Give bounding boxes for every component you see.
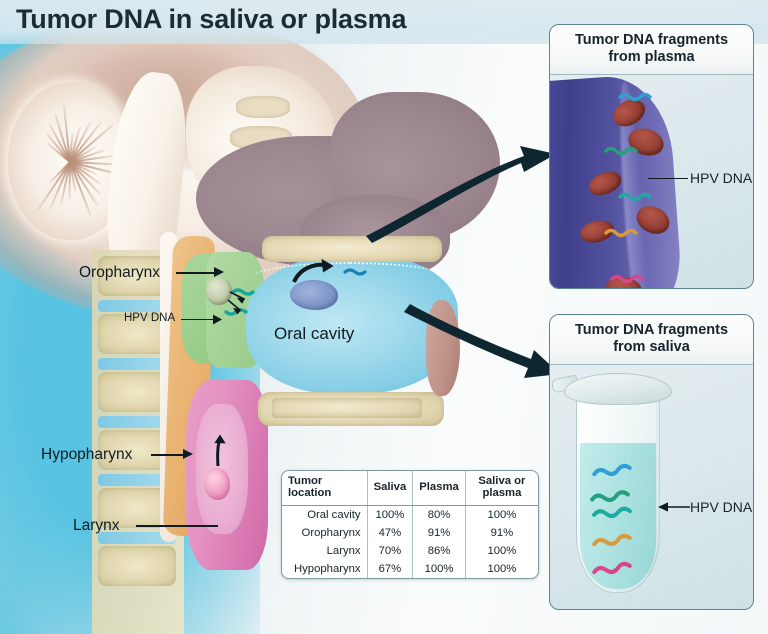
cell-saliva-or-plasma: 100%	[465, 560, 538, 578]
cell-saliva-or-plasma: 91%	[465, 524, 538, 542]
hpv-dna-fragment-icon	[594, 535, 630, 547]
hpv-dna-fragment-icon	[592, 492, 628, 503]
leader-hypopharynx	[151, 454, 187, 456]
cell-saliva-or-plasma: 100%	[465, 505, 538, 524]
tongue-dorsum-edge	[250, 262, 450, 296]
cell-location: Oropharynx	[282, 524, 367, 542]
oropharynx-tumor	[206, 277, 232, 305]
table-header-saliva: Saliva	[367, 471, 413, 505]
table-row: Hypopharynx67%100%100%	[282, 560, 538, 578]
table-row: Oropharynx47%91%91%	[282, 524, 538, 542]
panel-plasma-title: Tumor DNA fragments from plasma	[550, 25, 753, 75]
panel-plasma: Tumor DNA fragments from plasma	[549, 24, 754, 289]
table-head: Tumor location Saliva Plasma Saliva or p…	[282, 471, 538, 505]
table-header-plasma: Plasma	[413, 471, 466, 505]
label-hpv-dna-plasma: HPV DNA	[690, 170, 752, 186]
label-hypopharynx: Hypopharynx	[41, 446, 132, 464]
panel-saliva-title-line2: from saliva	[613, 339, 690, 355]
table-row: Oral cavity100%80%100%	[282, 505, 538, 524]
cell-saliva: 47%	[367, 524, 413, 542]
hpv-dna-fragment-icon	[612, 277, 642, 282]
panel-saliva-title-line1: Tumor DNA fragments	[575, 322, 728, 338]
leader-hpv-dna-oropharynx	[181, 319, 217, 320]
teeth-row	[272, 398, 422, 418]
panel-plasma-title-line1: Tumor DNA fragments	[575, 32, 728, 48]
leader-oropharynx-arrowhead	[214, 265, 228, 279]
results-table: Tumor location Saliva Plasma Saliva or p…	[281, 470, 539, 579]
cell-location: Hypopharynx	[282, 560, 367, 578]
leader-hpv-dna-arrowhead	[213, 313, 225, 326]
leader-hpv-dna-plasma	[648, 178, 688, 179]
larynx-tumor	[204, 468, 230, 500]
hpv-dna-fragment-icon	[620, 195, 650, 200]
oral-cavity-tumor	[290, 280, 338, 310]
cell-plasma: 86%	[413, 542, 466, 560]
label-hpv-dna-saliva: HPV DNA	[690, 499, 752, 515]
cell-plasma: 100%	[413, 560, 466, 578]
leader-oropharynx	[176, 272, 218, 274]
leader-larynx	[136, 525, 218, 527]
page-title: Tumor DNA in saliva or plasma	[16, 4, 406, 35]
table-header-saliva-or-plasma: Saliva or plasma	[465, 471, 538, 505]
leader-hypopharynx-arrowhead	[183, 447, 197, 461]
hard-palate-bone	[262, 236, 442, 262]
turbinate-superior	[236, 96, 290, 118]
cell-saliva: 67%	[367, 560, 413, 578]
cell-saliva: 100%	[367, 505, 413, 524]
hpv-dna-fragment-icon	[620, 95, 650, 100]
leader-hpv-dna-saliva	[656, 500, 692, 514]
cell-saliva-or-plasma: 100%	[465, 542, 538, 560]
table-header-row: Tumor location Saliva Plasma Saliva or p…	[282, 471, 538, 505]
cell-location: Oral cavity	[282, 505, 367, 524]
cell-plasma: 91%	[413, 524, 466, 542]
hpv-dna-fragment-icon	[606, 149, 636, 154]
label-oral-cavity: Oral cavity	[274, 324, 354, 344]
hpv-dna-fragment-icon	[606, 231, 636, 236]
cell-saliva: 70%	[367, 542, 413, 560]
hpv-dna-fragment-icon	[594, 508, 630, 518]
table-row: Larynx70%86%100%	[282, 542, 538, 560]
table-body: Oral cavity100%80%100%Oropharynx47%91%91…	[282, 505, 538, 578]
label-oropharynx: Oropharynx	[79, 264, 160, 282]
panel-saliva: Tumor DNA fragments from saliva	[549, 314, 754, 610]
table-header-tumor-location: Tumor location	[282, 471, 367, 505]
hpv-dna-fragment-icon	[594, 563, 630, 575]
cell-location: Larynx	[282, 542, 367, 560]
panel-plasma-title-line2: from plasma	[608, 49, 694, 65]
leader-hpv-dna-saliva-arrowhead	[658, 502, 668, 511]
label-larynx: Larynx	[73, 517, 120, 535]
vertebra	[98, 546, 176, 586]
lips	[426, 300, 460, 396]
hpv-dna-fragment-icon	[594, 465, 630, 477]
panel-saliva-title: Tumor DNA fragments from saliva	[550, 315, 753, 365]
cell-plasma: 80%	[413, 505, 466, 524]
infographic-canvas: Tumor DNA in saliva or plasma Oropharynx…	[0, 0, 768, 634]
label-hpv-dna-oropharynx: HPV DNA	[124, 312, 175, 324]
tumor-detection-table: Tumor location Saliva Plasma Saliva or p…	[282, 471, 538, 578]
